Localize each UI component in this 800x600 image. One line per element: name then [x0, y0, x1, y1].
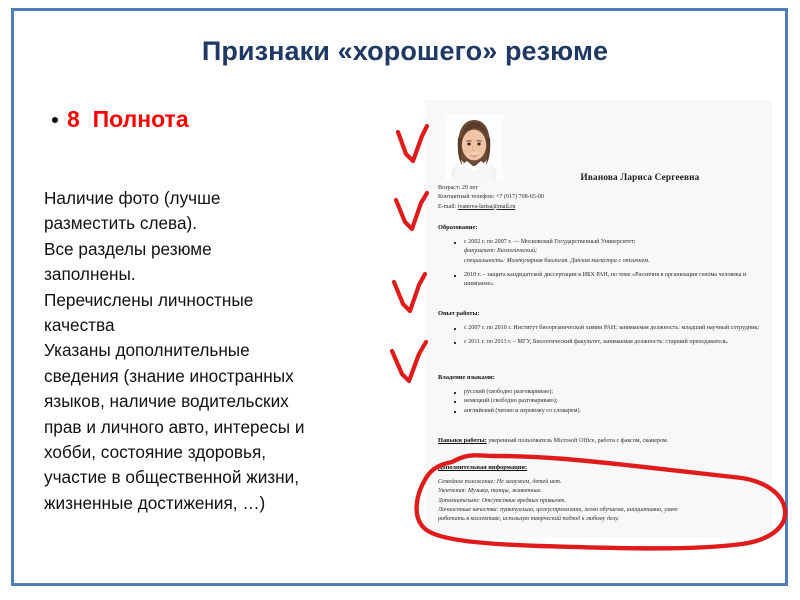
body-line: хобби, состояние здоровья,	[44, 440, 396, 465]
resume-document-panel: Иванова Лариса Сергеевна Возраст: 29 лет…	[425, 100, 772, 537]
education-heading: Образование:	[438, 223, 760, 233]
body-line: Перечислены личностные	[44, 288, 396, 313]
experience-item: с 2011 г. по 2013 г. – МГУ, Биологически…	[438, 338, 760, 347]
language-item: русский (свободно разговариваю);	[438, 388, 760, 397]
additional-line: Дополнительно: Отсутствие вредных привыч…	[438, 497, 760, 506]
resume-portrait-photo	[445, 114, 503, 180]
body-line: языков, наличие водительских	[44, 389, 396, 414]
education-subline: специальность: Молекулярная биология. Ди…	[438, 257, 760, 266]
bullet-heading: 8 Полнота	[52, 106, 189, 133]
checkmark-icon	[398, 126, 427, 161]
language-item: немецкий (свободно разговариваю);	[438, 397, 760, 406]
contact-email-line: E-mail: ivanova-larisa@mail.ru	[438, 203, 760, 212]
resume-contacts-block: Возраст: 29 лет Контактный телефон: +7 (…	[438, 184, 760, 212]
body-line: Наличие фото (лучше	[44, 186, 396, 211]
body-line: прав и личного авто, интересы и	[44, 415, 396, 440]
resume-experience-block: Опыт работы: с 2007 г. по 2010 г. Инстит…	[438, 309, 760, 348]
checkmark-icon	[392, 342, 426, 381]
skills-line: Навыки работы: уверенный пользователь Mi…	[438, 436, 760, 446]
resume-skills-block: Навыки работы: уверенный пользователь Mi…	[438, 436, 760, 446]
page-title: Признаки «хорошего» резюме	[60, 36, 750, 67]
additional-line: Увлечения: Музыка, танцы, животные.	[438, 487, 760, 496]
education-subline: факультет: Биологический;	[438, 247, 760, 256]
body-text-block: Наличие фото (лучше разместить слева). В…	[44, 186, 396, 516]
email-label: E-mail:	[438, 204, 458, 210]
resume-languages-block: Владение языками: русский (свободно разг…	[438, 373, 760, 416]
body-line: участие в общественной жизни,	[44, 465, 396, 490]
body-line: разместить слева).	[44, 211, 396, 236]
additional-line: Семейное положение: Не замужем, детей не…	[438, 478, 760, 487]
resume-full-name: Иванова Лариса Сергеевна	[515, 172, 765, 182]
contact-line: Возраст: 29 лет	[438, 184, 760, 193]
languages-heading: Владение языками:	[438, 373, 760, 383]
checkmark-icon	[394, 274, 425, 311]
checkmark-icon	[396, 193, 427, 229]
email-value[interactable]: ivanova-larisa@mail.ru	[458, 204, 516, 210]
additional-line: Личностные качества: пунктуальна, целеус…	[438, 506, 760, 515]
body-line: жизненные достижения, …)	[44, 491, 396, 516]
contact-line: Контактный телефон: +7 (917) 708-65-00	[438, 193, 760, 202]
body-line: Указаны дополнительные	[44, 338, 396, 363]
resume-additional-block: Дополнительная информация: Семейное поло…	[438, 463, 760, 524]
education-item: с 2002 г. по 2007 г. — Московский Госуда…	[438, 238, 760, 247]
language-item: английский (читаю и перевожу со словарем…	[438, 407, 760, 416]
body-line: сведения (знание иностранных	[44, 364, 396, 389]
experience-heading: Опыт работы:	[438, 309, 760, 319]
resume-education-block: Образование: с 2002 г. по 2007 г. — Моск…	[438, 223, 760, 289]
experience-item: с 2007 г. по 2010 г. Институт биоорганич…	[438, 324, 760, 333]
skills-text: уверенный пользователь Microsoft Office,…	[487, 438, 668, 444]
additional-line: работать в коллективе, использую творчес…	[438, 515, 760, 524]
bullet-heading-label: 8 Полнота	[67, 106, 189, 133]
body-line: Все разделы резюме	[44, 237, 396, 262]
body-line: заполнены.	[44, 262, 396, 287]
body-line: качества	[44, 313, 396, 338]
bullet-dot-icon	[52, 117, 58, 123]
slide-canvas: Признаки «хорошего» резюме 8 Полнота Нал…	[0, 0, 800, 600]
additional-heading: Дополнительная информация:	[438, 463, 760, 473]
skills-heading: Навыки работы:	[438, 437, 487, 444]
education-item: 2010 г. – защита кандидатской диссертаци…	[438, 271, 760, 290]
